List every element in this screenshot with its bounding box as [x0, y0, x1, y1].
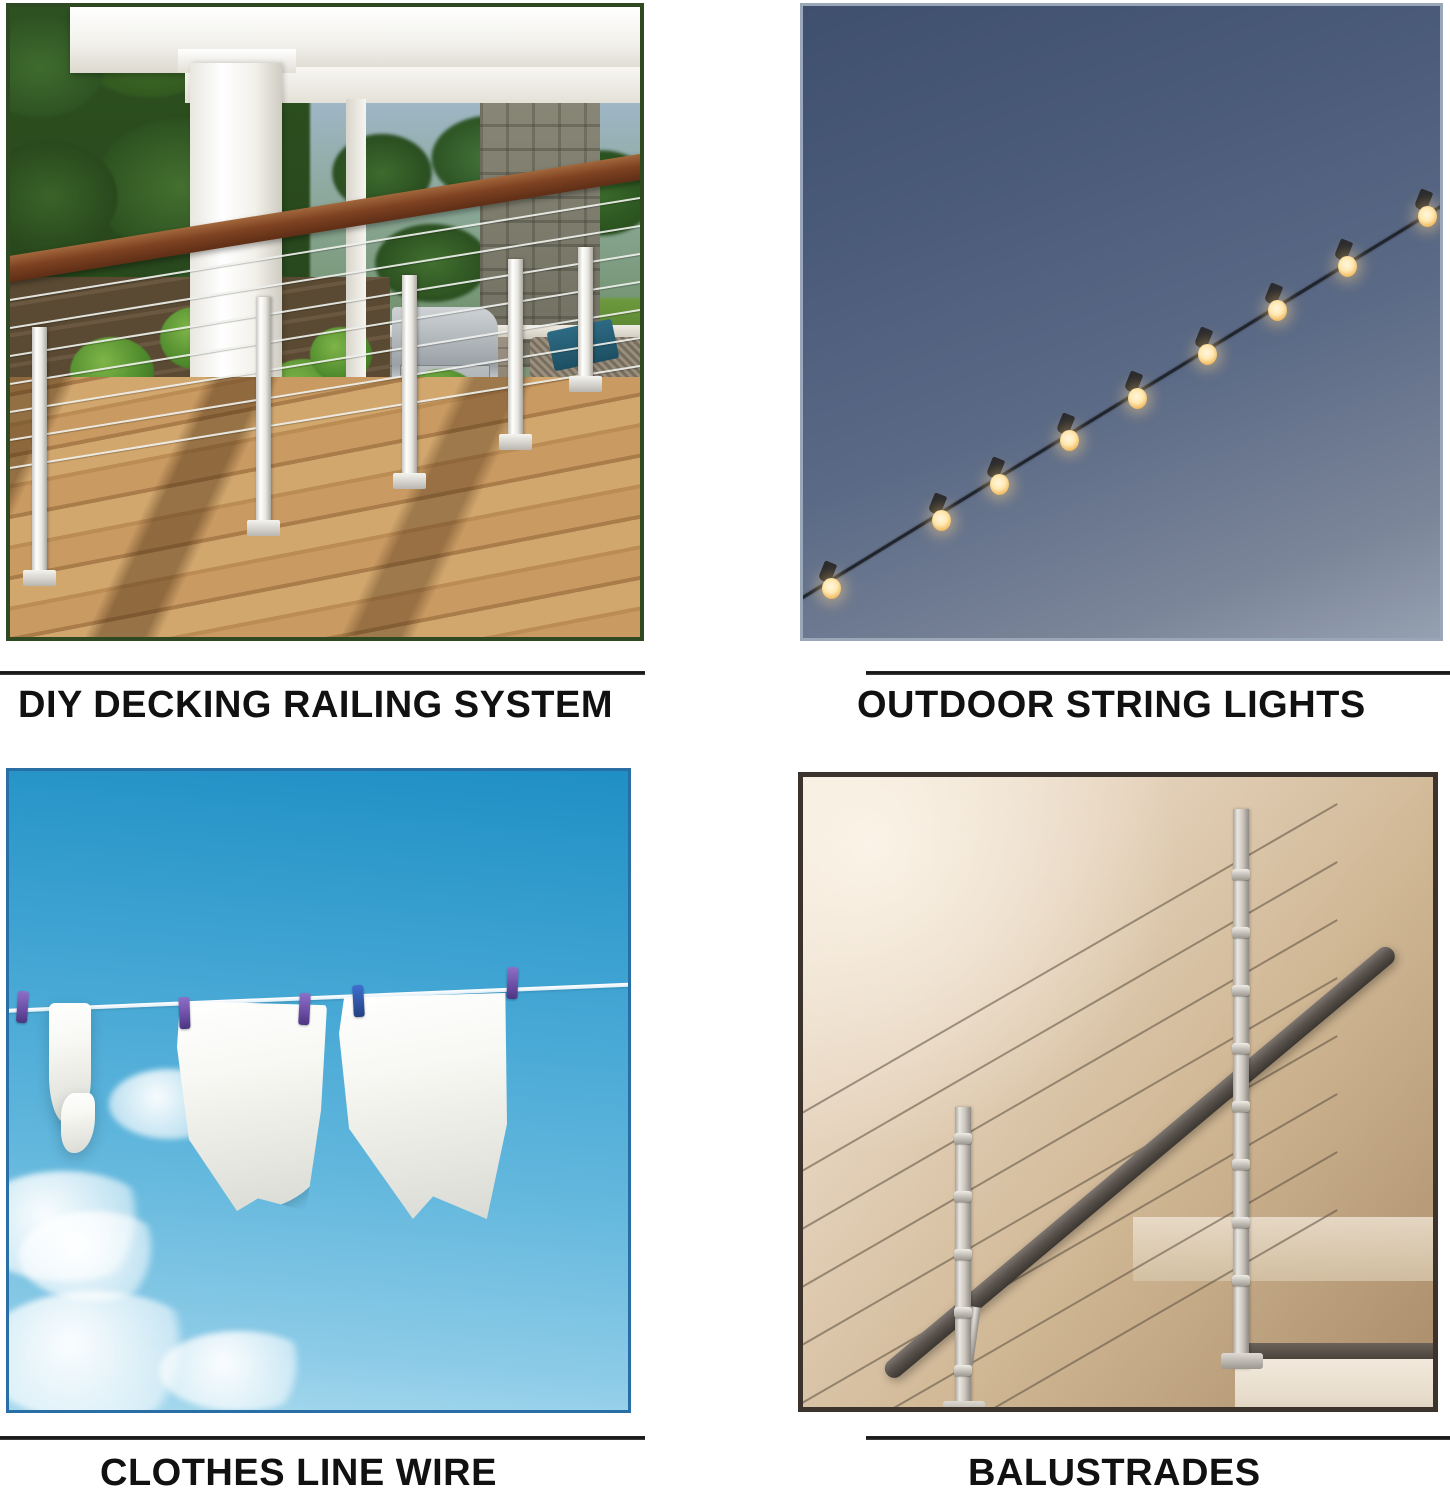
stair-step [1133, 1217, 1433, 1281]
bulb-glass [1128, 388, 1147, 409]
clothespin [178, 997, 190, 1029]
balustrades-caption: BALUSTRADES [968, 1452, 1261, 1495]
caption-divider [866, 671, 1450, 675]
dusk-sky-scene [803, 6, 1440, 638]
light-string-wire [803, 132, 1440, 605]
hanging-garment [177, 1001, 327, 1211]
bulb-glass [1198, 344, 1217, 365]
cable-fitting [954, 1365, 972, 1376]
deck-railing-caption: DIY DECKING RAILING SYSTEM [18, 684, 613, 727]
post-base [1221, 1353, 1263, 1369]
cloud [19, 1211, 169, 1301]
stair-tread [1235, 1343, 1433, 1359]
staircase-scene [803, 777, 1433, 1407]
cable-fitting [1232, 1159, 1250, 1170]
railing-post [402, 275, 417, 480]
clothespin [298, 993, 311, 1026]
cable-fitting [954, 1191, 972, 1202]
bulb-glass [990, 474, 1009, 495]
string-lights-image[interactable] [800, 3, 1443, 641]
cable-fitting [1232, 869, 1250, 880]
clothes-line-caption: CLOTHES LINE WIRE [100, 1452, 497, 1495]
cable-fitting [1232, 1101, 1250, 1112]
railing-post [508, 259, 523, 441]
railing-post [32, 327, 47, 577]
clothes-line-scene [9, 771, 628, 1410]
caption-divider [866, 1436, 1450, 1440]
cable-fitting [1232, 985, 1250, 996]
stair-step [1235, 1351, 1433, 1407]
bulb-glass [1060, 430, 1079, 451]
string-lights-caption: OUTDOOR STRING LIGHTS [857, 684, 1366, 727]
hanging-garment [61, 1093, 95, 1153]
cloud [159, 1331, 319, 1410]
caption-divider [0, 671, 645, 675]
clothespin [506, 967, 518, 999]
porch-roof [70, 7, 640, 73]
cable-fitting [1232, 1217, 1250, 1228]
bulb-glass [822, 578, 841, 599]
cable-fitting [1232, 927, 1250, 938]
bulb-glass [1268, 300, 1287, 321]
caption-divider [0, 1436, 645, 1440]
railing-post [256, 297, 271, 527]
balustrades-image[interactable] [798, 772, 1438, 1412]
bulb-glass [1338, 256, 1357, 277]
clothespin [352, 985, 365, 1018]
bulb-glass [932, 510, 951, 531]
clothes-line-image[interactable] [6, 768, 631, 1413]
cable-fitting [954, 1307, 972, 1318]
cable-fitting [954, 1249, 972, 1260]
railing-post [578, 247, 593, 383]
gallery-grid: DIY DECKING RAILING SYSTEM [0, 0, 1450, 1500]
cable-fitting [954, 1133, 972, 1144]
post-base [943, 1401, 985, 1407]
cable-fitting [1232, 1275, 1250, 1286]
clothespin [16, 991, 29, 1024]
bulb-glass [1418, 206, 1437, 227]
deck-railing-image[interactable] [6, 3, 644, 641]
deck-railing-scene [10, 7, 640, 637]
cable-fitting [1232, 1043, 1250, 1054]
hanging-garment [339, 993, 507, 1219]
